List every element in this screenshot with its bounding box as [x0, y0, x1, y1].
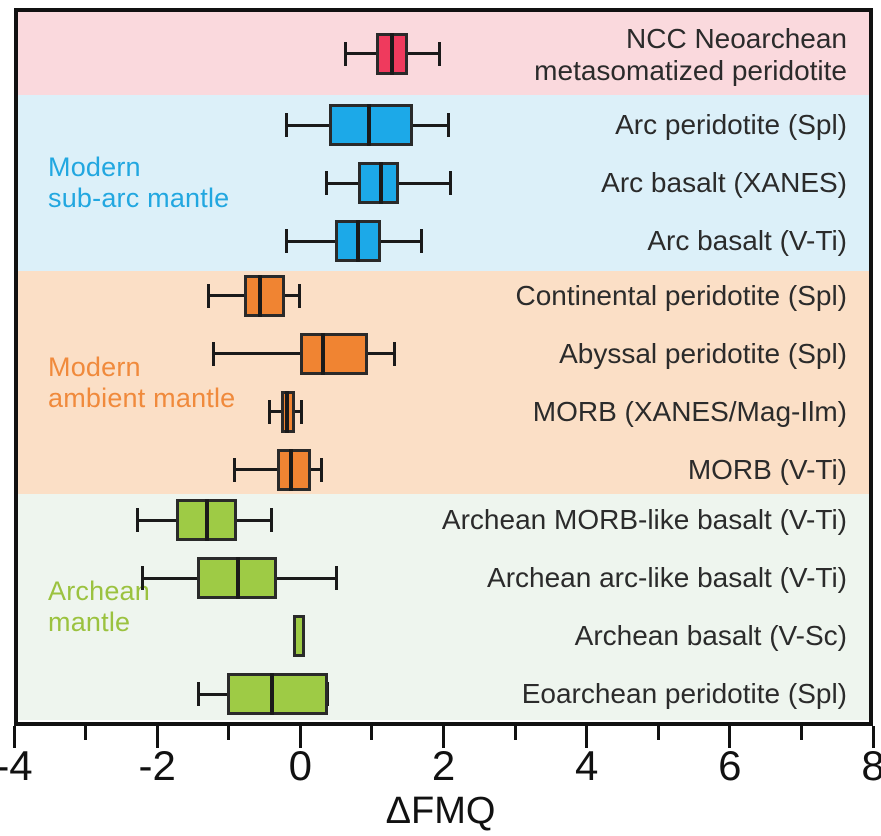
box-row-label: Archean basalt (V-Sc) — [575, 620, 847, 652]
box-row-label: Archean arc-like basalt (V-Ti) — [487, 562, 847, 594]
whisker-line-high — [237, 519, 273, 522]
x-tick-label: 6 — [718, 742, 741, 790]
box-row-label: NCC Neoarchean metasomatized peridotite — [534, 23, 847, 87]
box-iqr — [277, 449, 311, 491]
whisker-line-high — [277, 577, 338, 580]
box-row-label: Arc basalt (XANES) — [601, 167, 847, 199]
whisker-cap-low — [141, 566, 144, 590]
median-line — [367, 104, 371, 146]
box-row-label: Arc peridotite (Spl) — [615, 109, 847, 141]
box-row-label: Eoarchean peridotite (Spl) — [522, 678, 847, 710]
whisker-cap-high — [270, 508, 273, 532]
whisker-cap-low — [197, 682, 200, 706]
whisker-line-low — [233, 468, 277, 471]
box-row: Abyssal peridotite (Spl) — [18, 325, 869, 383]
whisker-line-low — [197, 693, 227, 696]
x-tick-label: 4 — [575, 742, 598, 790]
whisker-line-low — [207, 294, 244, 297]
box-iqr — [300, 333, 367, 375]
box-row: Archean arc-like basalt (V-Ti) — [18, 549, 869, 607]
whisker-line-high — [399, 182, 452, 185]
chart-page: NCC Neoarchean metasomatized peridotiteM… — [0, 0, 881, 836]
whisker-cap-low — [212, 342, 215, 366]
whisker-cap-high — [300, 400, 303, 424]
median-line — [205, 499, 209, 541]
median-line — [236, 557, 240, 599]
whisker-cap-high — [420, 229, 423, 253]
x-tick-minor — [370, 726, 373, 740]
x-tick-label: -2 — [138, 742, 175, 790]
x-tick-label: -4 — [0, 742, 33, 790]
box-row: Arc basalt (V-Ti) — [18, 212, 869, 270]
whisker-cap-low — [268, 400, 271, 424]
whisker-cap-high — [449, 171, 452, 195]
box-row-label: Abyssal peridotite (Spl) — [559, 338, 847, 370]
box-row-label: Archean MORB-like basalt (V-Ti) — [442, 504, 847, 536]
whisker-cap-low — [325, 171, 328, 195]
whisker-line-low — [141, 577, 197, 580]
group-band-1: Modern sub-arc mantleArc peridotite (Spl… — [18, 95, 869, 271]
x-tick-minor — [227, 726, 230, 740]
whisker-cap-high — [320, 458, 323, 482]
x-tick-minor — [514, 726, 517, 740]
median-line — [258, 275, 262, 317]
x-axis-title: ΔFMQ — [0, 790, 881, 833]
whisker-line-high — [381, 240, 423, 243]
box-row: Continental peridotite (Spl) — [18, 267, 869, 325]
whisker-line-low — [212, 352, 301, 355]
x-tick-label: 8 — [861, 742, 881, 790]
box-row: Archean MORB-like basalt (V-Ti) — [18, 491, 869, 549]
whisker-line-low — [344, 52, 376, 55]
box-row: Archean basalt (V-Sc) — [18, 607, 869, 665]
median-line — [321, 333, 325, 375]
box-iqr — [244, 275, 285, 317]
box-iqr — [293, 615, 304, 657]
box-row: Eoarchean peridotite (Spl) — [18, 665, 869, 723]
x-tick-minor — [84, 726, 87, 740]
box-row-label: MORB (XANES/Mag-Ilm) — [533, 396, 847, 428]
x-tick-label: 0 — [289, 742, 312, 790]
whisker-cap-high — [298, 284, 301, 308]
box-row: NCC Neoarchean metasomatized peridotite — [18, 25, 869, 83]
whisker-line-high — [408, 52, 440, 55]
whisker-cap-low — [285, 113, 288, 137]
median-line — [285, 391, 289, 433]
whisker-cap-high — [393, 342, 396, 366]
whisker-cap-low — [285, 229, 288, 253]
group-band-2: Modern ambient mantleContinental peridot… — [18, 271, 869, 494]
x-tick-label: 2 — [432, 742, 455, 790]
whisker-line-low — [285, 240, 336, 243]
median-line — [379, 162, 383, 204]
box-row-label: MORB (V-Ti) — [688, 454, 847, 486]
x-tick-minor — [657, 726, 660, 740]
box-iqr — [227, 673, 327, 715]
whisker-line-high — [368, 352, 396, 355]
whisker-cap-low — [233, 458, 236, 482]
whisker-cap-low — [136, 508, 139, 532]
whisker-cap-low — [344, 42, 347, 66]
whisker-line-high — [413, 124, 450, 127]
median-line — [270, 673, 274, 715]
box-iqr — [329, 104, 413, 146]
whisker-cap-high — [447, 113, 450, 137]
x-tick-minor — [800, 726, 803, 740]
whisker-cap-high — [438, 42, 441, 66]
plot-area: NCC Neoarchean metasomatized peridotiteM… — [14, 8, 873, 726]
group-band-3: Archean mantleArchean MORB-like basalt (… — [18, 494, 869, 720]
whisker-cap-high — [335, 566, 338, 590]
whisker-line-low — [285, 124, 329, 127]
box-row-label: Arc basalt (V-Ti) — [647, 225, 847, 257]
group-band-0: NCC Neoarchean metasomatized peridotite — [18, 12, 869, 95]
median-line — [356, 220, 360, 262]
whisker-cap-low — [207, 284, 210, 308]
box-row: Arc basalt (XANES) — [18, 154, 869, 212]
whisker-line-low — [136, 519, 176, 522]
box-row: Arc peridotite (Spl) — [18, 96, 869, 154]
median-line — [390, 33, 394, 75]
box-row: MORB (V-Ti) — [18, 441, 869, 499]
box-row-label: Continental peridotite (Spl) — [515, 280, 847, 312]
median-line — [289, 449, 293, 491]
box-row: MORB (XANES/Mag-Ilm) — [18, 383, 869, 441]
whisker-line-low — [325, 182, 357, 185]
